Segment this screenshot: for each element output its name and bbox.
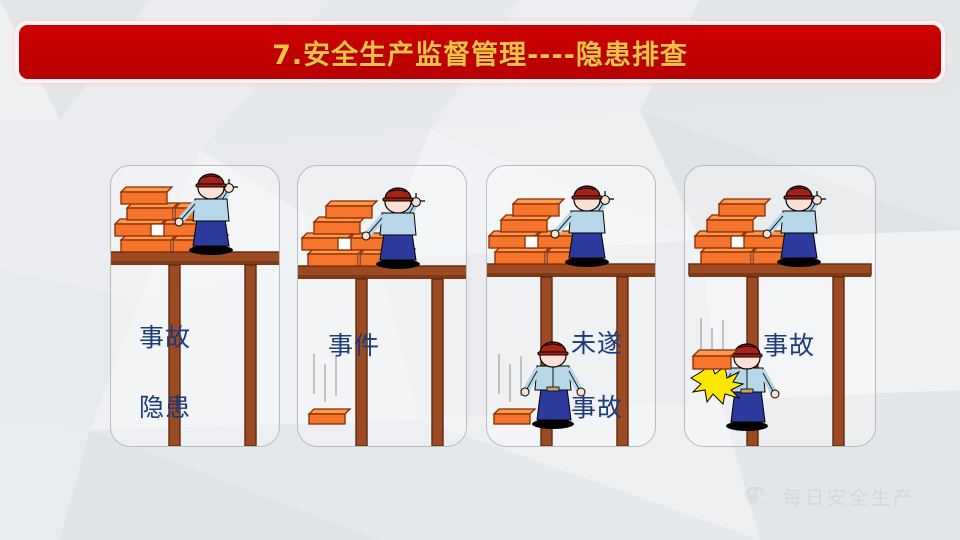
title-bar-frame: 7.安全生产监督管理----隐患排查 (15, 21, 945, 83)
fallen-brick (309, 409, 350, 424)
caption-near-miss-line1: 未遂 (571, 324, 623, 360)
page-title: 7.安全生产监督管理----隐患排查 (272, 33, 688, 72)
illustration-hazard (111, 166, 279, 446)
caption-near-miss-line2: 事故 (571, 388, 623, 424)
panel-accident[interactable]: 事故 (684, 165, 876, 447)
illustration-incident (298, 166, 466, 446)
panel-near-miss[interactable]: 未遂 事故 (486, 165, 656, 447)
caption-incident-line1: 事件 (328, 326, 380, 362)
illustration-accident (685, 166, 875, 446)
title-bar: 7.安全生产监督管理----隐患排查 (19, 25, 941, 79)
falling-brick (494, 409, 535, 424)
panel-hazard[interactable]: 事故 隐患 (110, 165, 280, 447)
caption-accident-line1: 事故 (763, 326, 815, 362)
motion-lines (499, 354, 521, 402)
panel-incident[interactable]: 事件 (297, 165, 467, 447)
watermark-text: 每日安全生产 (783, 483, 915, 510)
caption-hazard-line1: 事故 (139, 318, 191, 354)
slide-canvas: 7.安全生产监督管理----隐患排查 (0, 0, 960, 540)
watermark: 每日安全生产 (744, 483, 915, 510)
striking-brick (693, 350, 737, 369)
wechat-icon (744, 485, 774, 509)
caption-hazard-line2: 隐患 (139, 388, 191, 424)
